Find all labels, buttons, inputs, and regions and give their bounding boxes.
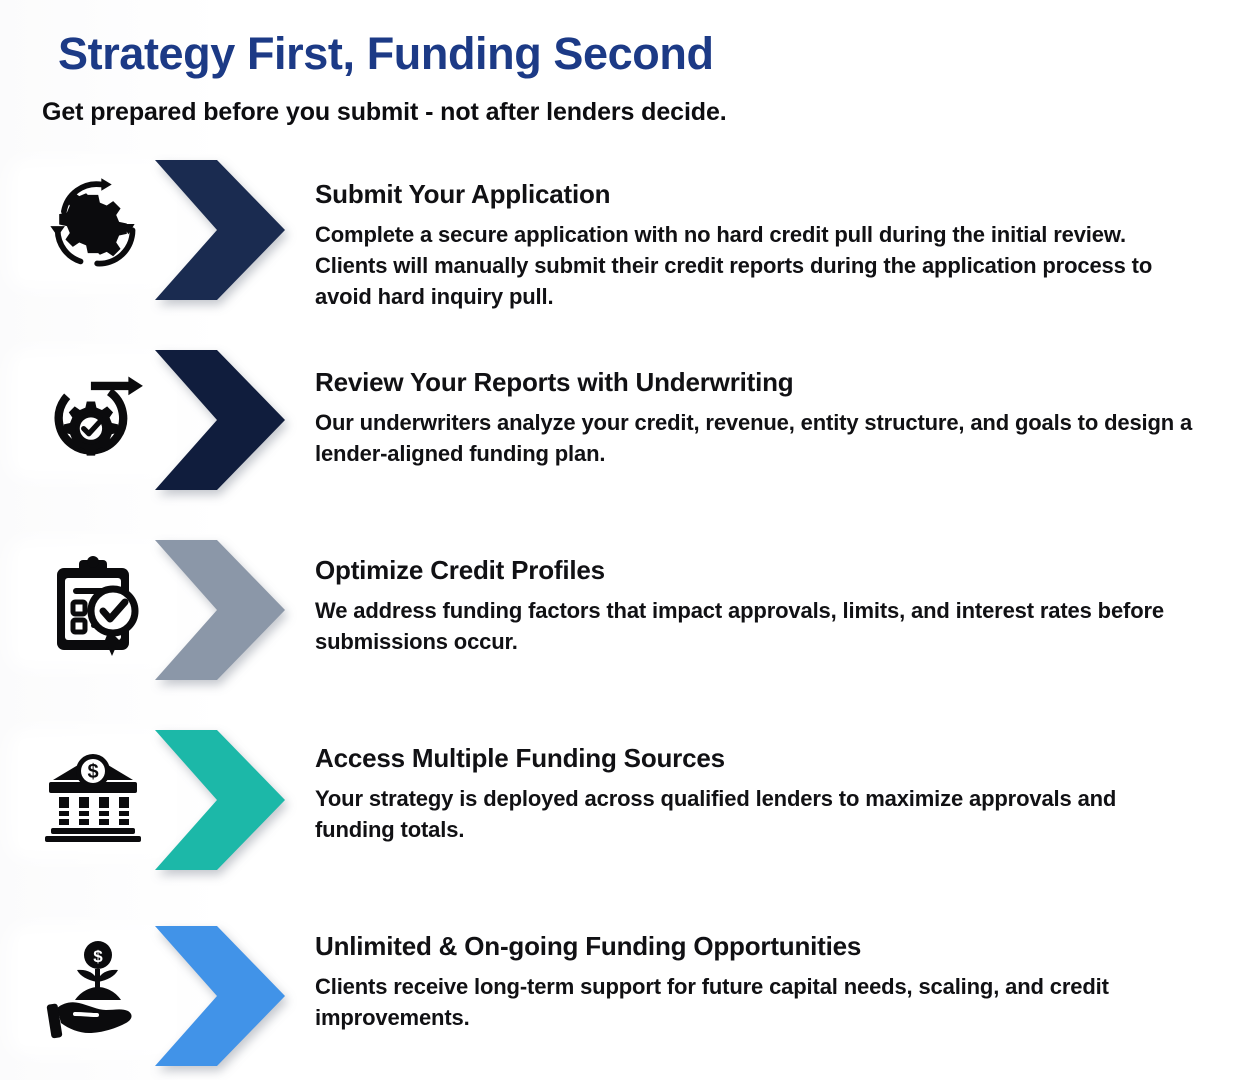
chevron-shape — [155, 730, 285, 870]
gear-cycle-icon — [41, 172, 145, 276]
step-1-icon-tile — [18, 168, 168, 280]
clipboard-magnifier-check-icon — [43, 552, 143, 656]
step-2-chevron — [155, 350, 285, 490]
svg-text:$: $ — [93, 947, 103, 966]
step-2-icon-tile — [18, 358, 168, 470]
step-4-chevron — [155, 730, 285, 870]
page-title: Strategy First, Funding Second — [58, 28, 714, 80]
step-1-title: Submit Your Application — [315, 180, 1210, 210]
step-4-text: Access Multiple Funding Sources Your str… — [315, 744, 1210, 845]
hand-plant-coin-icon: $ — [41, 938, 145, 1042]
chevron-shape — [155, 160, 285, 300]
step-2-body: Our underwriters analyze your credit, re… — [315, 407, 1195, 469]
step-4-icon-tile: $ — [18, 738, 168, 850]
step-4-body: Your strategy is deployed across qualifi… — [315, 783, 1195, 845]
step-2-text: Review Your Reports with Underwriting Ou… — [315, 368, 1210, 469]
step-5-icon-tile: $ — [18, 934, 168, 1046]
chevron-shape — [155, 540, 285, 680]
step-2-title: Review Your Reports with Underwriting — [315, 368, 1210, 398]
step-5-body: Clients receive long-term support for fu… — [315, 971, 1195, 1033]
step-5-title: Unlimited & On-going Funding Opportuniti… — [315, 932, 1210, 962]
step-4-title: Access Multiple Funding Sources — [315, 744, 1210, 774]
step-3-text: Optimize Credit Profiles We address fund… — [315, 556, 1210, 657]
bank-dollar-icon: $ — [41, 746, 145, 842]
step-1-text: Submit Your Application Complete a secur… — [315, 180, 1210, 313]
step-3-body: We address funding factors that impact a… — [315, 595, 1195, 657]
page-subtitle: Get prepared before you submit - not aft… — [42, 98, 727, 127]
chevron-shape — [155, 926, 285, 1066]
step-3-chevron — [155, 540, 285, 680]
infographic-page: Strategy First, Funding Second Get prepa… — [0, 0, 1250, 1080]
step-1-chevron — [155, 160, 285, 300]
step-3-icon-tile — [18, 548, 168, 660]
gear-check-arrow-icon — [41, 362, 145, 466]
step-5-text: Unlimited & On-going Funding Opportuniti… — [315, 932, 1210, 1033]
svg-text:$: $ — [87, 761, 98, 783]
chevron-shape — [155, 350, 285, 490]
step-3-title: Optimize Credit Profiles — [315, 556, 1210, 586]
step-1-body: Complete a secure application with no ha… — [315, 219, 1195, 313]
step-5-chevron — [155, 926, 285, 1066]
